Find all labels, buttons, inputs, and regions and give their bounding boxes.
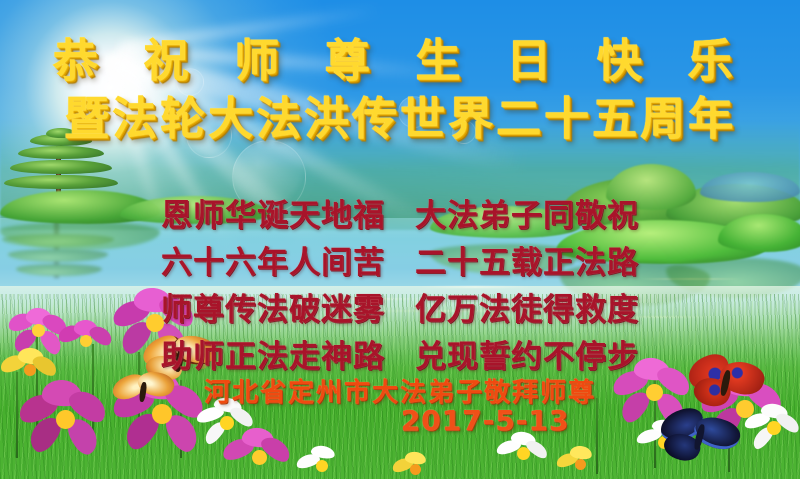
poem-row: 助师正法走神路 兑现誓约不停步 [0, 331, 800, 376]
poem-block: 恩师华诞天地福 大法弟子同敬祝 六十六年人间苦 二十五载正法路 师尊传法破迷雾 … [0, 190, 800, 378]
poem-cell-left: 师尊传法破迷雾 [161, 284, 385, 329]
poem-cell-left: 助师正法走神路 [161, 331, 385, 376]
yellow-flower [392, 452, 438, 479]
poem-cell-right: 亿万法徒得救度 [415, 284, 639, 329]
greeting-card: 恭 祝 师 尊 生 日 快 乐 暨法轮大法洪传世界二十五周年 恩师华诞天地福 大… [0, 0, 800, 479]
poem-cell-right: 二十五载正法路 [415, 237, 639, 282]
date-stamp: 2017-5-13 [0, 404, 800, 437]
yellow-flower [556, 446, 604, 479]
daisy-flower [496, 432, 550, 478]
poem-cell-right: 兑现誓约不停步 [415, 331, 639, 376]
poem-row: 师尊传法破迷雾 亿万法徒得救度 [0, 284, 800, 329]
poem-row: 六十六年人间苦 二十五载正法路 [0, 237, 800, 282]
poem-row: 恩师华诞天地福 大法弟子同敬祝 [0, 190, 800, 235]
title-line-1: 恭 祝 师 尊 生 日 快 乐 [0, 24, 800, 89]
poem-cell-left: 六十六年人间苦 [161, 237, 385, 282]
poem-cell-right: 大法弟子同敬祝 [415, 190, 639, 235]
title-line-2: 暨法轮大法洪传世界二十五周年 [0, 82, 800, 147]
poem-cell-left: 恩师华诞天地福 [161, 190, 385, 235]
daisy-flower [296, 446, 348, 479]
